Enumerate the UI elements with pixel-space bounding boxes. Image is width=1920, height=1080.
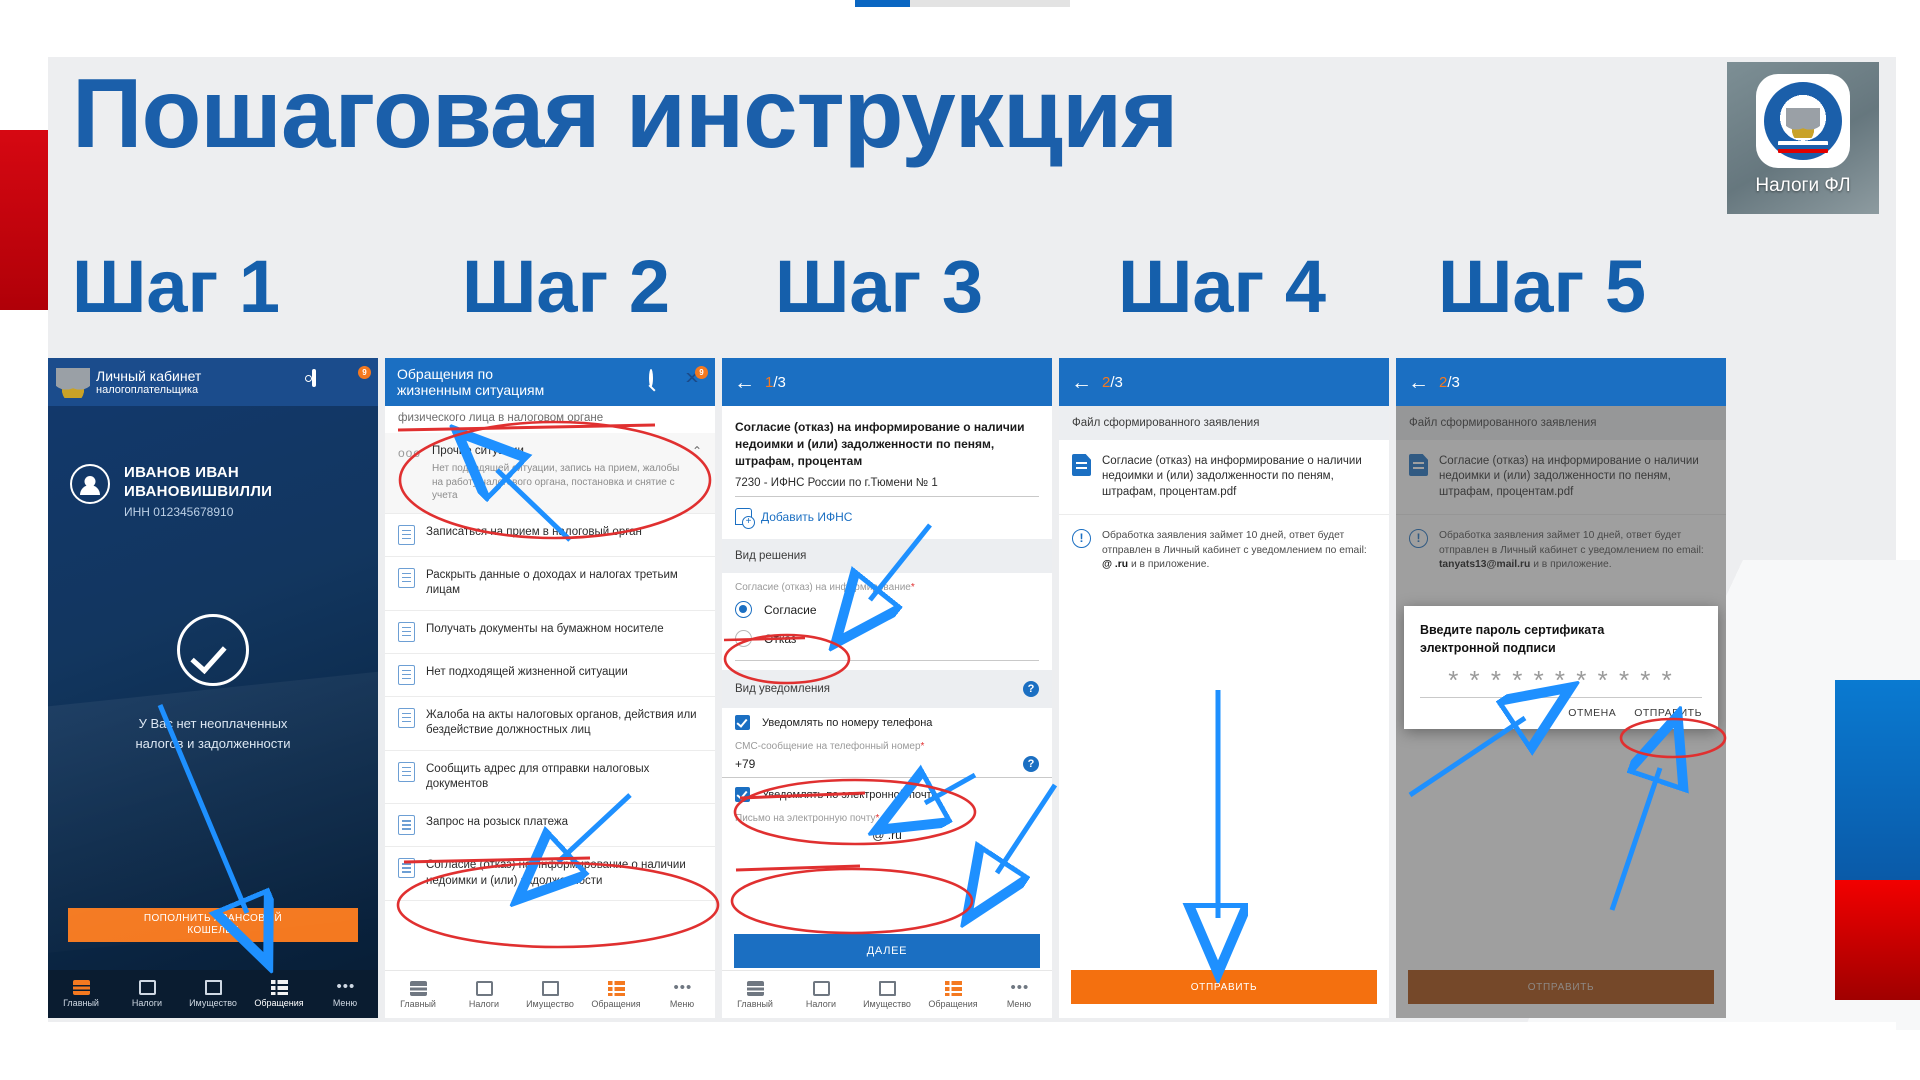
radio-label-consent: Согласие	[764, 603, 817, 617]
document-icon	[398, 665, 415, 685]
nav-item-menu[interactable]: ••• Меню	[649, 981, 715, 1009]
required-marker: *	[876, 813, 880, 824]
property-house-icon	[542, 981, 559, 996]
nav-item-menu[interactable]: ••• Меню	[986, 981, 1052, 1009]
app-badge-label: Налоги ФЛ	[1755, 175, 1850, 197]
dialog-title-line2: электронной подписи	[1420, 641, 1556, 655]
list-item-consent[interactable]: Согласие (отказ) на информирование о нал…	[385, 847, 715, 901]
nav-label-main: Главный	[737, 999, 773, 1009]
screenshot-step-3: ← 1/3 Согласие (отказ) на информирование…	[722, 358, 1052, 1018]
add-ifns-button[interactable]: Добавить ИФНС	[722, 497, 1052, 539]
list-item[interactable]: Раскрыть данные о доходах и налогах трет…	[385, 557, 715, 611]
dialog-title-line1: Введите пароль сертификата	[1420, 623, 1604, 637]
nav-label-property: Имущество	[863, 999, 911, 1009]
s4-page-indicator: 2/3	[1102, 374, 1123, 391]
list-item-label: Раскрыть данные о доходах и налогах трет…	[426, 568, 702, 599]
list-item[interactable]: Записаться на прием в налоговый орган	[385, 514, 715, 557]
nav-item-property[interactable]: Имущество	[517, 981, 583, 1009]
document-icon	[398, 568, 415, 588]
section-notify-header: Вид уведомления ?	[722, 670, 1052, 708]
nav-item-main[interactable]: Главный	[385, 981, 451, 1009]
decision-label-text: Согласие (отказ) на информирование	[735, 582, 911, 593]
section-notify-label: Вид уведомления	[735, 683, 830, 695]
slide-canvas: Пошаговая инструкция Шаг 1 Шаг 2 Шаг 3 Ш…	[0, 0, 1920, 1080]
other-situations-title: Прочие ситуации	[432, 444, 681, 459]
more-dots-icon: •••	[674, 981, 691, 996]
generated-file-name: Согласие (отказ) на информирование о нал…	[1102, 454, 1376, 500]
list-item[interactable]: Получать документы на бумажном носителе	[385, 611, 715, 654]
list-item[interactable]: Нет подходящей жизненной ситуации	[385, 654, 715, 697]
document-icon	[398, 762, 415, 782]
next-button[interactable]: ДАЛЕЕ	[734, 934, 1040, 968]
list-item[interactable]: Жалоба на акты налоговых органов, действ…	[385, 697, 715, 751]
nav-label-menu: Меню	[670, 999, 694, 1009]
app-badge: Налоги ФЛ	[1727, 62, 1879, 214]
flag-red-band	[1835, 880, 1920, 1000]
three-dots-icon: ooo	[398, 444, 421, 460]
phone-input-value: +79	[735, 757, 755, 771]
s2-bottom-nav: Главный Налоги Имущество Обращения ••• М…	[385, 970, 715, 1018]
back-arrow-icon[interactable]: ←	[734, 372, 755, 393]
app-icon-tile	[1756, 74, 1850, 168]
nav-label-main: Главный	[63, 998, 99, 1008]
password-dialog-title: Введите пароль сертификата электронной п…	[1420, 622, 1702, 657]
nav-item-property[interactable]: Имущество	[854, 981, 920, 1009]
nav-label-requests: Обращения	[254, 998, 303, 1008]
generated-file-row[interactable]: Согласие (отказ) на информирование о нал…	[1059, 440, 1389, 515]
presentation-progress-bar	[855, 0, 1070, 7]
page-title: Пошаговая инструкция	[72, 62, 1177, 165]
list-item-label: Жалоба на акты налоговых органов, действ…	[426, 708, 702, 739]
s2-appbar: Обращения по жизненным ситуациям 9	[385, 358, 715, 406]
list-item-label: Сообщить адрес для отправки налоговых до…	[426, 762, 702, 793]
check-circle-icon	[177, 614, 249, 686]
list-item-label: Записаться на прием в налоговый орган	[426, 525, 642, 540]
nav-label-requests: Обращения	[591, 999, 640, 1009]
nav-item-taxes[interactable]: Налоги	[114, 980, 180, 1008]
background-bottom-strip	[48, 1022, 1896, 1080]
checkbox-label-email: Уведомлять по электронной почте	[762, 789, 938, 801]
s5-page-indicator: 2/3	[1439, 374, 1460, 391]
checkbox-notify-email[interactable]: Уведомлять по электронной почте	[722, 778, 1052, 804]
dialog-submit-button[interactable]: ОТПРАВИТЬ	[1634, 707, 1702, 719]
step-labels: Шаг 1 Шаг 2 Шаг 3 Шаг 4 Шаг 5	[0, 250, 1920, 350]
checkbox-notify-phone[interactable]: Уведомлять по номеру телефона	[722, 708, 1052, 732]
notice-part1: Обработка заявления займет 10 дней, отве…	[1102, 530, 1367, 556]
form-title: Согласие (отказ) на информирование о нал…	[722, 406, 1052, 477]
list-item[interactable]: Запрос на розыск платежа	[385, 804, 715, 847]
nav-label-taxes: Налоги	[132, 998, 162, 1008]
list-item-label: Нет подходящей жизненной ситуации	[426, 665, 628, 680]
search-icon[interactable]	[649, 371, 671, 393]
top-up-label-line2: КОШЕЛЕК	[144, 925, 282, 938]
checkbox-checked-icon	[735, 715, 750, 730]
divider	[735, 660, 1039, 661]
mail-icon[interactable]: 9	[681, 371, 703, 393]
nav-label-taxes: Налоги	[469, 999, 499, 1009]
nav-item-main[interactable]: Главный	[48, 980, 114, 1008]
send-button[interactable]: ОТПРАВИТЬ	[1071, 970, 1377, 1004]
warning-circle-icon	[1072, 529, 1091, 548]
s5-appbar: ← 2/3	[1396, 358, 1726, 406]
screenshot-step-4: ← 2/3 Файл сформированного заявления Сог…	[1059, 358, 1389, 1018]
pdf-file-icon	[1072, 454, 1091, 476]
property-house-icon	[205, 980, 222, 995]
nav-label-property: Имущество	[526, 999, 574, 1009]
tax-doc-icon	[139, 980, 156, 995]
user-name-line1: ИВАНОВ ИВАН	[124, 464, 272, 483]
s3-body: Согласие (отказ) на информирование о нал…	[722, 406, 1052, 1018]
avatar	[70, 464, 110, 504]
screenshot-step-2: Обращения по жизненным ситуациям 9 физич…	[385, 358, 715, 1018]
radio-unselected-icon	[735, 630, 752, 647]
other-situations-subtitle: Нет подходящей ситуации, запись на прием…	[432, 462, 681, 502]
s2-body: физического лица в налоговом органе ooo …	[385, 406, 715, 1018]
nav-item-taxes[interactable]: Налоги	[788, 981, 854, 1009]
document-icon	[398, 525, 415, 545]
s5-page-total: /3	[1447, 374, 1460, 391]
user-inn: ИНН 012345678910	[124, 505, 272, 519]
nav-item-requests[interactable]: Обращения	[920, 981, 986, 1009]
top-up-wallet-button[interactable]: ПОПОЛНИТЬ АВАНСОВЫЙ КОШЕЛЕК	[68, 908, 358, 942]
wallet-icon[interactable]	[312, 371, 334, 393]
s3-page-indicator: 1/3	[765, 374, 786, 391]
tax-doc-icon	[476, 981, 493, 996]
document-icon	[398, 622, 415, 642]
step-label-2: Шаг 2	[462, 250, 670, 324]
radio-option-refusal[interactable]: Отказ	[722, 624, 1052, 653]
notice-email: @ .ru	[1102, 559, 1128, 570]
property-house-icon	[879, 981, 896, 996]
nav-item-property[interactable]: Имущество	[180, 980, 246, 1008]
add-ifns-label: Добавить ИФНС	[761, 510, 852, 524]
requests-list-icon	[608, 981, 625, 996]
section-decision-label: Вид решения	[735, 550, 806, 562]
screenshot-step-5: ← 2/3 Файл сформированного заявления Сог…	[1396, 358, 1726, 1018]
status-message: У Вас нет неоплаченных налогов и задолже…	[48, 714, 378, 753]
nav-label-requests: Обращения	[928, 999, 977, 1009]
section-decision-header: Вид решения	[722, 539, 1052, 573]
s2-cut-text: физического лица в налоговом органе	[385, 406, 715, 433]
step-label-4: Шаг 4	[1118, 250, 1326, 324]
document-icon	[398, 815, 415, 835]
document-icon	[398, 858, 415, 878]
back-arrow-icon[interactable]: ←	[1071, 372, 1092, 393]
nav-item-requests[interactable]: Обращения	[583, 981, 649, 1009]
nav-label-menu: Меню	[333, 998, 357, 1008]
chevron-up-icon[interactable]: ⌃	[692, 444, 702, 458]
nav-item-requests[interactable]: Обращения	[246, 980, 312, 1008]
more-dots-icon: •••	[337, 980, 354, 995]
s1-appbar-title: Личный кабинет налогоплательщика	[96, 368, 201, 397]
processing-notice-text: Обработка заявления займет 10 дней, отве…	[1102, 529, 1376, 573]
list-item[interactable]: Сообщить адрес для отправки налоговых до…	[385, 751, 715, 805]
nav-item-menu[interactable]: ••• Меню	[312, 980, 378, 1008]
main-list-icon	[747, 981, 764, 996]
checkbox-label-phone: Уведомлять по номеру телефона	[762, 717, 932, 729]
add-office-icon	[735, 508, 752, 525]
help-circle-icon[interactable]: ?	[1023, 681, 1039, 697]
russian-flag-decoration	[1835, 680, 1920, 1000]
checkbox-checked-icon	[735, 787, 750, 802]
s1-appbar-title-line1: Личный кабинет	[96, 368, 201, 384]
s1-appbar-title-line2: налогоплательщика	[96, 384, 201, 397]
s3-bottom-nav: Главный Налоги Имущество Обращения ••• М…	[722, 970, 1052, 1018]
dialog-actions: ОТМЕНА ОТПРАВИТЬ	[1420, 707, 1702, 719]
fns-crest-icon	[60, 369, 86, 395]
s4-appbar: ← 2/3	[1059, 358, 1389, 406]
requests-list-icon	[271, 980, 288, 995]
ifns-value[interactable]: 7230 - ИФНС России по г.Тюмени № 1	[735, 477, 1039, 497]
phone-field-label-text: СМС-сообщение на телефонный номер	[735, 741, 921, 752]
s4-page-total: /3	[1110, 374, 1123, 391]
main-list-icon	[410, 981, 427, 996]
phone-input[interactable]: +79 ?	[722, 754, 1052, 778]
s3-appbar: ← 1/3	[722, 358, 1052, 406]
s2-appbar-title-line2: жизненным ситуациям	[397, 382, 544, 398]
email-field-label-text: Письмо на электронную почту	[735, 813, 876, 824]
nav-item-main[interactable]: Главный	[722, 981, 788, 1009]
nav-label-main: Главный	[400, 999, 436, 1009]
step-label-3: Шаг 3	[775, 250, 983, 324]
email-input[interactable]: @ .ru	[722, 826, 1052, 847]
s4-section-header: Файл сформированного заявления	[1059, 406, 1389, 440]
status-message-line2: налогов и задолженности	[48, 734, 378, 754]
nav-label-menu: Меню	[1007, 999, 1031, 1009]
s1-body: ИВАНОВ ИВАН ИВАНОВИШВИЛЛИ ИНН 0123456789…	[48, 406, 378, 1018]
s4-body: Файл сформированного заявления Согласие …	[1059, 406, 1389, 1018]
s3-page-total: /3	[773, 374, 786, 391]
fns-crest-icon	[1764, 82, 1842, 160]
more-dots-icon: •••	[1011, 981, 1028, 996]
radio-label-refusal: Отказ	[764, 632, 796, 646]
s1-appbar: Личный кабинет налогоплательщика 9	[48, 358, 378, 406]
processing-notice: Обработка заявления займет 10 дней, отве…	[1059, 515, 1389, 587]
help-circle-icon[interactable]: ?	[1023, 756, 1039, 772]
email-input-value: @ .ru	[872, 828, 902, 842]
top-up-label-line1: ПОПОЛНИТЬ АВАНСОВЫЙ	[144, 913, 282, 926]
nav-label-taxes: Налоги	[806, 999, 836, 1009]
s5-body: Файл сформированного заявления Согласие …	[1396, 406, 1726, 1018]
status-message-line1: У Вас нет неоплаченных	[48, 714, 378, 734]
list-item-other-situations[interactable]: ooo Прочие ситуации Нет подходящей ситуа…	[385, 433, 715, 514]
email-field-label: Письмо на электронную почту*	[722, 804, 1052, 826]
nav-item-taxes[interactable]: Налоги	[451, 981, 517, 1009]
required-marker: *	[921, 741, 925, 752]
screenshot-step-1: Личный кабинет налогоплательщика 9 ИВАНО…	[48, 358, 378, 1018]
main-list-icon	[73, 980, 90, 995]
dialog-cancel-button[interactable]: ОТМЕНА	[1568, 707, 1616, 719]
s1-bottom-nav: Главный Налоги Имущество Обращения •••	[48, 970, 378, 1018]
decision-field-label: Согласие (отказ) на информирование*	[722, 573, 1052, 595]
list-item-label: Запрос на розыск платежа	[426, 815, 568, 830]
step-label-1: Шаг 1	[72, 250, 280, 324]
list-item-label: Получать документы на бумажном носителе	[426, 622, 664, 637]
notice-part2: и в приложение.	[1131, 559, 1209, 570]
back-arrow-icon[interactable]: ←	[1408, 372, 1429, 393]
phone-field-label: СМС-сообщение на телефонный номер*	[722, 732, 1052, 754]
radio-option-consent[interactable]: Согласие	[722, 595, 1052, 624]
user-name-line2: ИВАНОВИШВИЛЛИ	[124, 483, 272, 502]
password-input[interactable]: * * * * * * * * * * *	[1420, 667, 1702, 698]
radio-selected-icon	[735, 601, 752, 618]
tax-doc-icon	[813, 981, 830, 996]
requests-list-icon	[945, 981, 962, 996]
required-marker: *	[911, 582, 915, 593]
password-dialog: Введите пароль сертификата электронной п…	[1404, 606, 1718, 729]
list-item-label: Согласие (отказ) на информирование о нал…	[426, 858, 702, 889]
document-icon	[398, 708, 415, 728]
mail-badge: 9	[695, 366, 708, 379]
mail-badge: 9	[358, 366, 371, 379]
nav-label-property: Имущество	[189, 998, 237, 1008]
progress-fill	[855, 0, 910, 7]
s2-appbar-title: Обращения по жизненным ситуациям	[397, 366, 544, 398]
s2-appbar-title-line1: Обращения по	[397, 366, 493, 382]
flag-blue-band	[1835, 680, 1920, 880]
mail-icon[interactable]: 9	[344, 371, 366, 393]
step-label-5: Шаг 5	[1438, 250, 1646, 324]
user-card: ИВАНОВ ИВАН ИВАНОВИШВИЛЛИ ИНН 0123456789…	[70, 464, 272, 519]
